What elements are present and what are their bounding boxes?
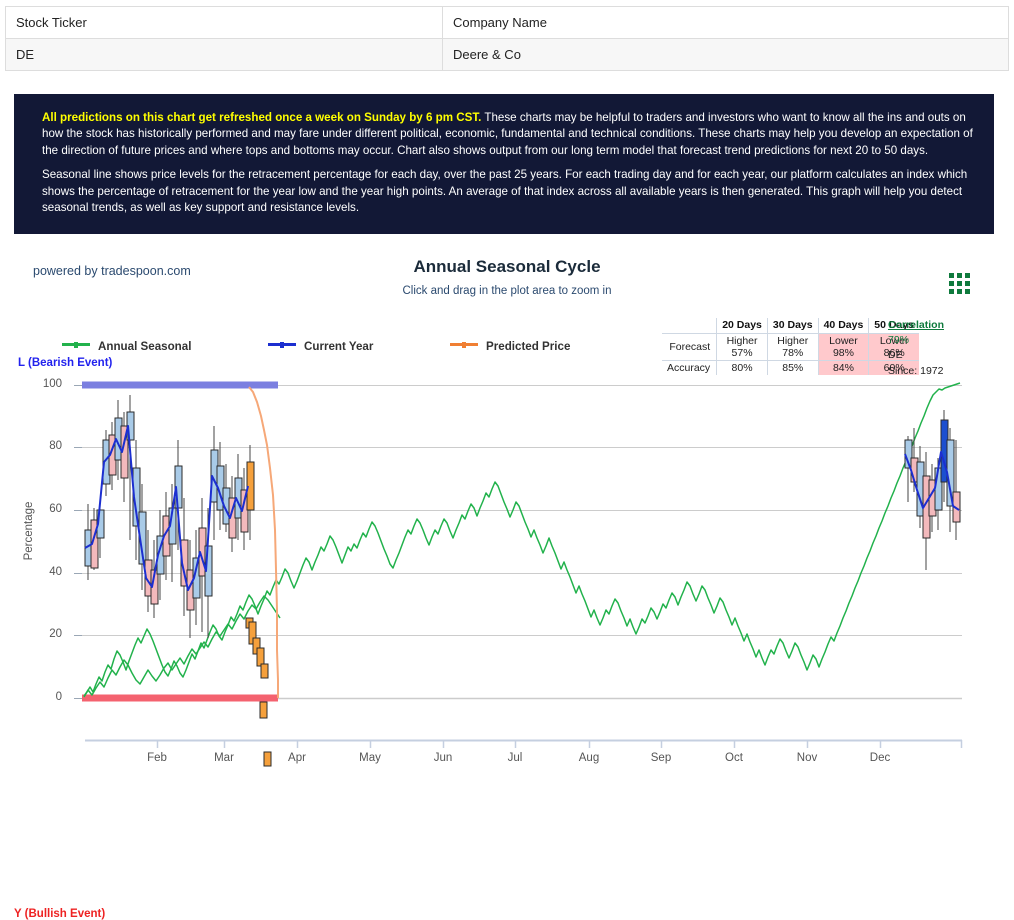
bullish-event-label: Y (Bullish Event)	[14, 908, 105, 920]
header-company-name: Company Name	[443, 7, 1009, 39]
banner-paragraph-2: Seasonal line shows price levels for the…	[42, 167, 974, 216]
plot-area[interactable]: Percentage 0 20 40 60 80 100 Feb Mar Apr…	[0, 240, 1014, 775]
annual-seasonal-line	[84, 383, 960, 696]
current-year-candles-late	[905, 410, 960, 570]
cell-company-name: Deere & Co	[443, 39, 1009, 71]
stock-info-table: Stock Ticker Company Name DE Deere & Co	[5, 6, 1009, 71]
table-row: DE Deere & Co	[6, 39, 1009, 71]
info-banner: All predictions on this chart get refres…	[14, 94, 994, 234]
chart-container[interactable]: powered by tradespoon.com Annual Seasona…	[0, 240, 1014, 775]
table-header-row: Stock Ticker Company Name	[6, 7, 1009, 39]
chart-svg[interactable]	[0, 240, 1014, 775]
cell-stock-ticker: DE	[6, 39, 443, 71]
annual-seasonal-line-segment-early	[84, 596, 280, 697]
banner-paragraph-1: All predictions on this chart get refres…	[42, 110, 974, 159]
header-stock-ticker: Stock Ticker	[6, 7, 443, 39]
y-axis-ticks	[74, 386, 82, 699]
banner-highlight: All predictions on this chart get refres…	[42, 111, 481, 124]
